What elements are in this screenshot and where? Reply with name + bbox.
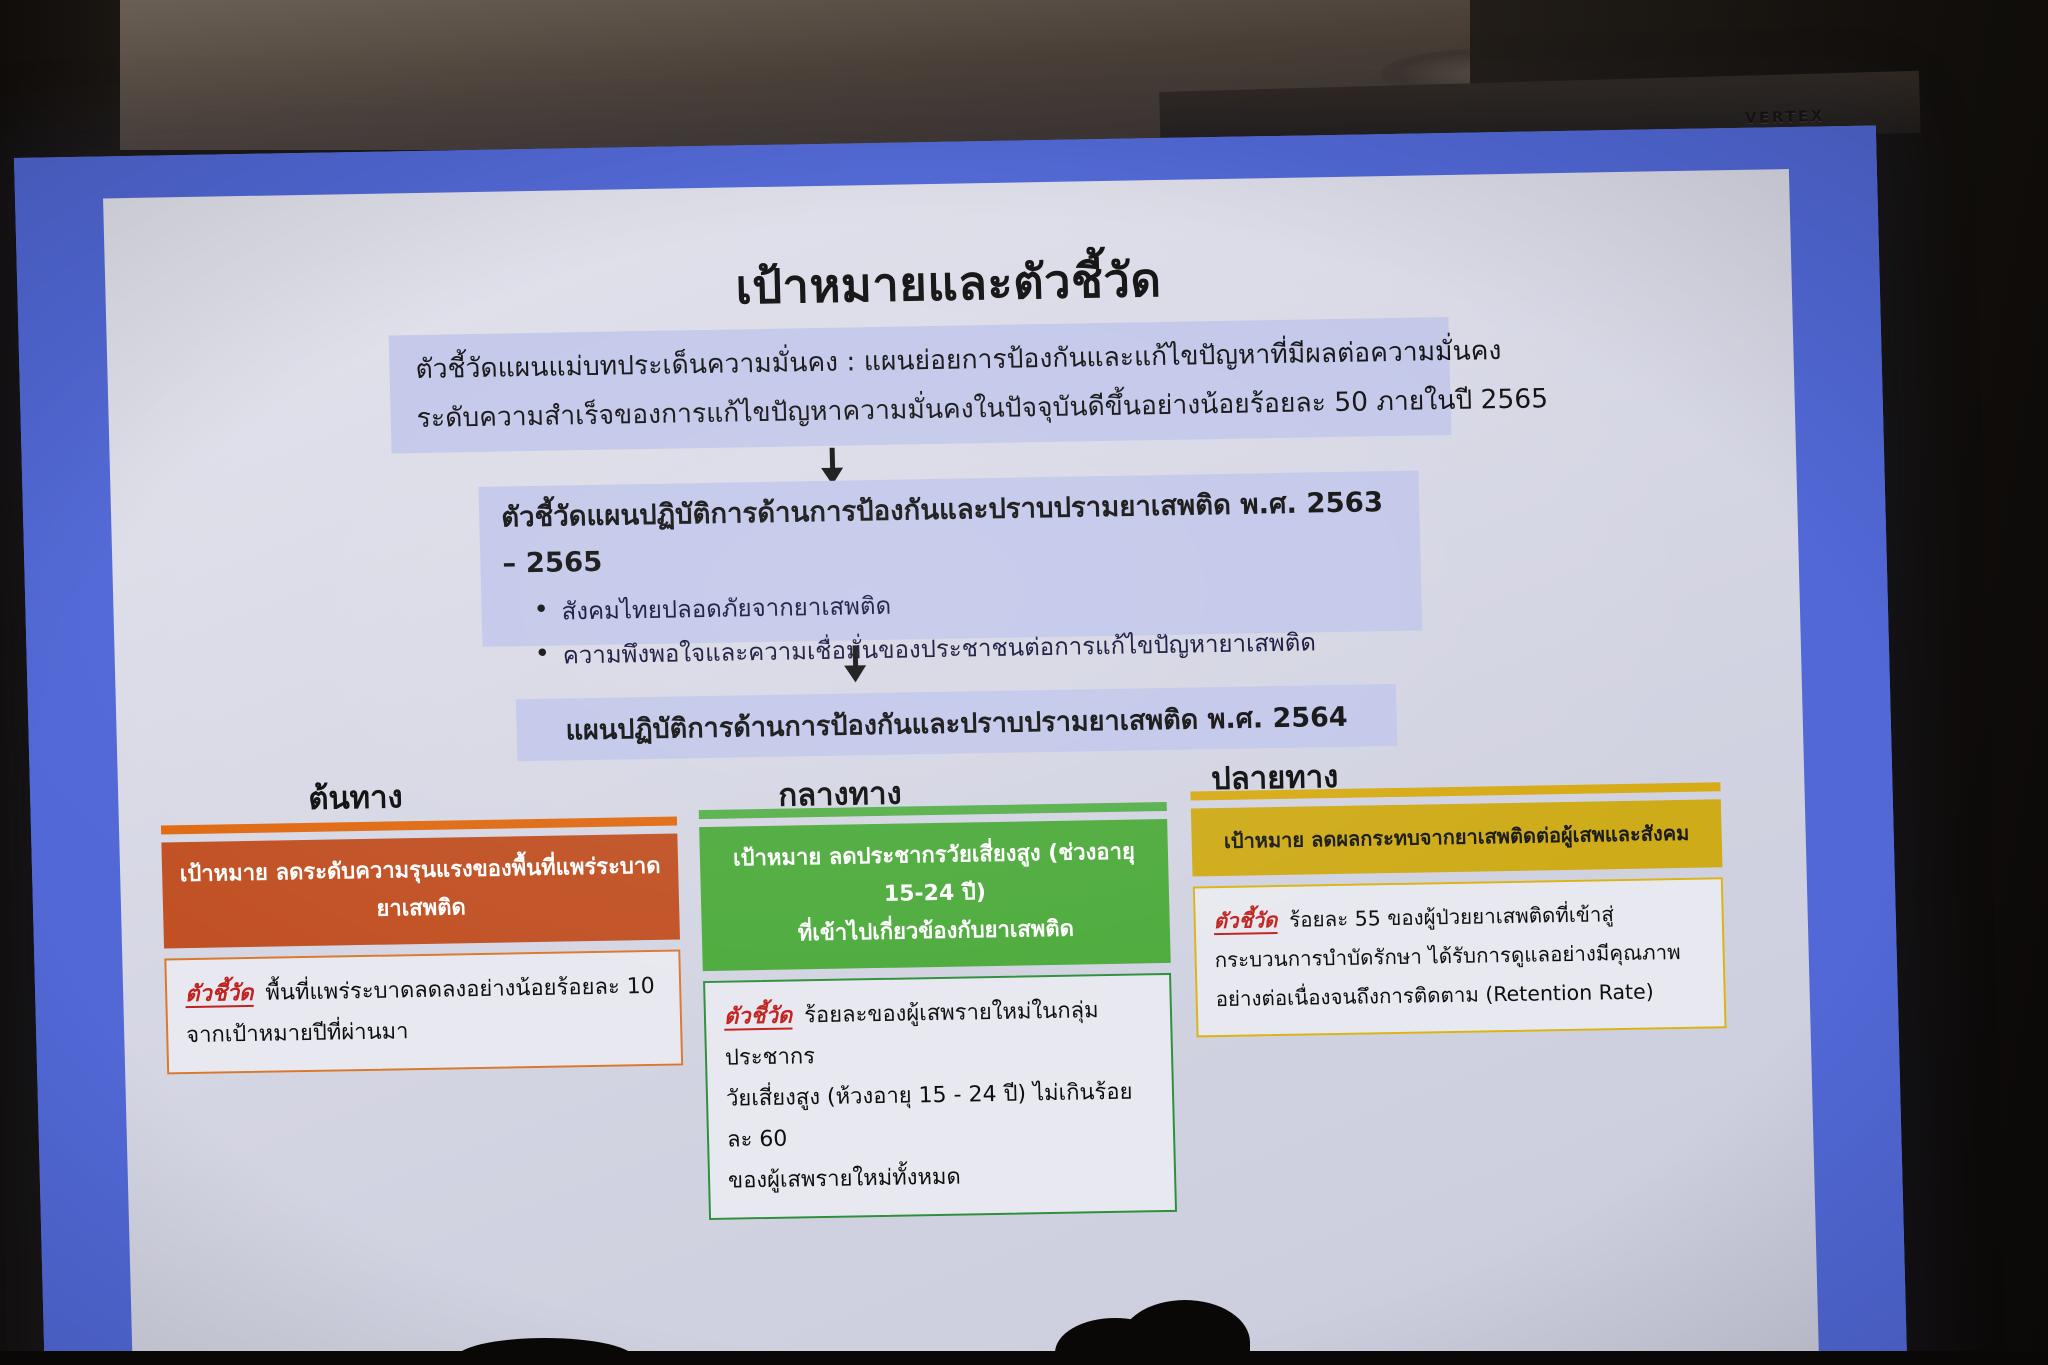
photograph-of-projected-slide: VERTEX เป้าหมายและตัวชี้วัด ตัวชี้วัดแผน…: [0, 0, 2048, 1365]
goal-card-downstream: เป้าหมาย ลดผลกระทบจากยาเสพติดต่อผู้เสพแล…: [1191, 799, 1723, 876]
goal-text-line-1: ลดประชากรวัยเสี่ยงสูง (ช่วงอายุ 15-24 ปี…: [829, 840, 1136, 907]
kpi-card-midstream: ตัวชี้วัดร้อยละของผู้เสพรายใหม่ในกลุ่มปร…: [703, 973, 1177, 1220]
kpi-tag-label: ตัวชี้วัด: [185, 981, 254, 1007]
slide-title: เป้าหมายและตัวชี้วัด: [105, 231, 1793, 335]
action-plan-indicator-box: ตัวชี้วัดแผนปฏิบัติการด้านการป้องกันและป…: [478, 471, 1422, 647]
goal-text-line-2: ยาเสพติด: [179, 886, 664, 932]
kpi-card-downstream: ตัวชี้วัดร้อยละ 55 ของผู้ป่วยยาเสพติดที่…: [1193, 877, 1727, 1037]
goal-lead-label: เป้าหมาย: [180, 861, 269, 888]
slide-canvas: เป้าหมายและตัวชี้วัด ตัวชี้วัดแผนแม่บทปร…: [103, 169, 1820, 1365]
goal-card-upstream: เป้าหมาย ลดระดับความรุนแรงของพื้นที่แพร่…: [161, 834, 680, 949]
column-upstream: เป้าหมาย ลดระดับความรุนแรงของพื้นที่แพร่…: [161, 817, 683, 1075]
projected-slide: เป้าหมายและตัวชี้วัด ตัวชี้วัดแผนแม่บทปร…: [14, 126, 1908, 1365]
column-midstream: เป้าหมาย ลดประชากรวัยเสี่ยงสูง (ช่วงอายุ…: [699, 802, 1177, 1220]
kpi-tag-label: ตัวชี้วัด: [1213, 908, 1277, 933]
goal-text-line-2: ที่เข้าไปเกี่ยวข้องกับยาเสพติด: [717, 909, 1154, 955]
kpi-card-upstream: ตัวชี้วัดพื้นที่แพร่ระบาดลดลงอย่างน้อยร้…: [164, 949, 683, 1074]
kpi-text-line-3: ของผู้เสพรายใหม่ทั้งหมด: [728, 1153, 1159, 1201]
column-downstream: เป้าหมาย ลดผลกระทบจากยาเสพติดต่อผู้เสพแล…: [1190, 782, 1726, 1037]
column-accent-bar: [699, 802, 1167, 819]
indicator-masterplan-box: ตัวชี้วัดแผนแม่บทประเด็นความมั่นคง : แผน…: [389, 317, 1452, 453]
column-heading-upstream: ต้นทาง: [308, 771, 404, 823]
kpi-text-line-3: อย่างต่อเนื่องจนถึงการติดตาม (Retention …: [1215, 972, 1708, 1020]
action-plan-2564-heading: แผนปฏิบัติการด้านการป้องกันและปราบปรามยา…: [536, 692, 1377, 757]
goal-lead-label: เป้าหมาย: [1224, 828, 1305, 853]
action-plan-bullet-list: สังคมไทยปลอดภัยจากยาเสพติด ความพึงพอใจแล…: [529, 575, 1401, 678]
kpi-text-line-1: ร้อยละ 55 ของผู้ป่วยยาเสพติดที่เข้าสู่: [1289, 902, 1614, 932]
kpi-text-line-1: พื้นที่แพร่ระบาดลดลงอย่างน้อยร้อยละ 10: [265, 974, 655, 1006]
foreground-shadow: [0, 1351, 2048, 1365]
action-plan-2564-box: แผนปฏิบัติการด้านการป้องกันและปราบปรามยา…: [516, 684, 1397, 761]
goal-lead-label: เป้าหมาย: [733, 845, 822, 872]
goal-text-line-1: ลดผลกระทบจากยาเสพติดต่อผู้เสพและสังคม: [1311, 821, 1690, 852]
kpi-text-line-2: จากเป้าหมายปีที่ผ่านมา: [186, 1007, 665, 1056]
vertex-brand-label: VERTEX: [1745, 107, 1825, 127]
kpi-tag-label: ตัวชี้วัด: [724, 1004, 793, 1030]
action-plan-heading: ตัวชี้วัดแผนปฏิบัติการด้านการป้องกันและป…: [501, 479, 1399, 587]
kpi-text-line-2: วัยเสี่ยงสูง (ห้วงอายุ 15 - 24 ปี) ไม่เก…: [726, 1071, 1158, 1160]
column-accent-bar: [161, 817, 677, 835]
goal-card-midstream: เป้าหมาย ลดประชากรวัยเสี่ยงสูง (ช่วงอายุ…: [699, 819, 1171, 971]
goal-text-line-1: ลดระดับความรุนแรงของพื้นที่แพร่ระบาด: [275, 854, 661, 886]
